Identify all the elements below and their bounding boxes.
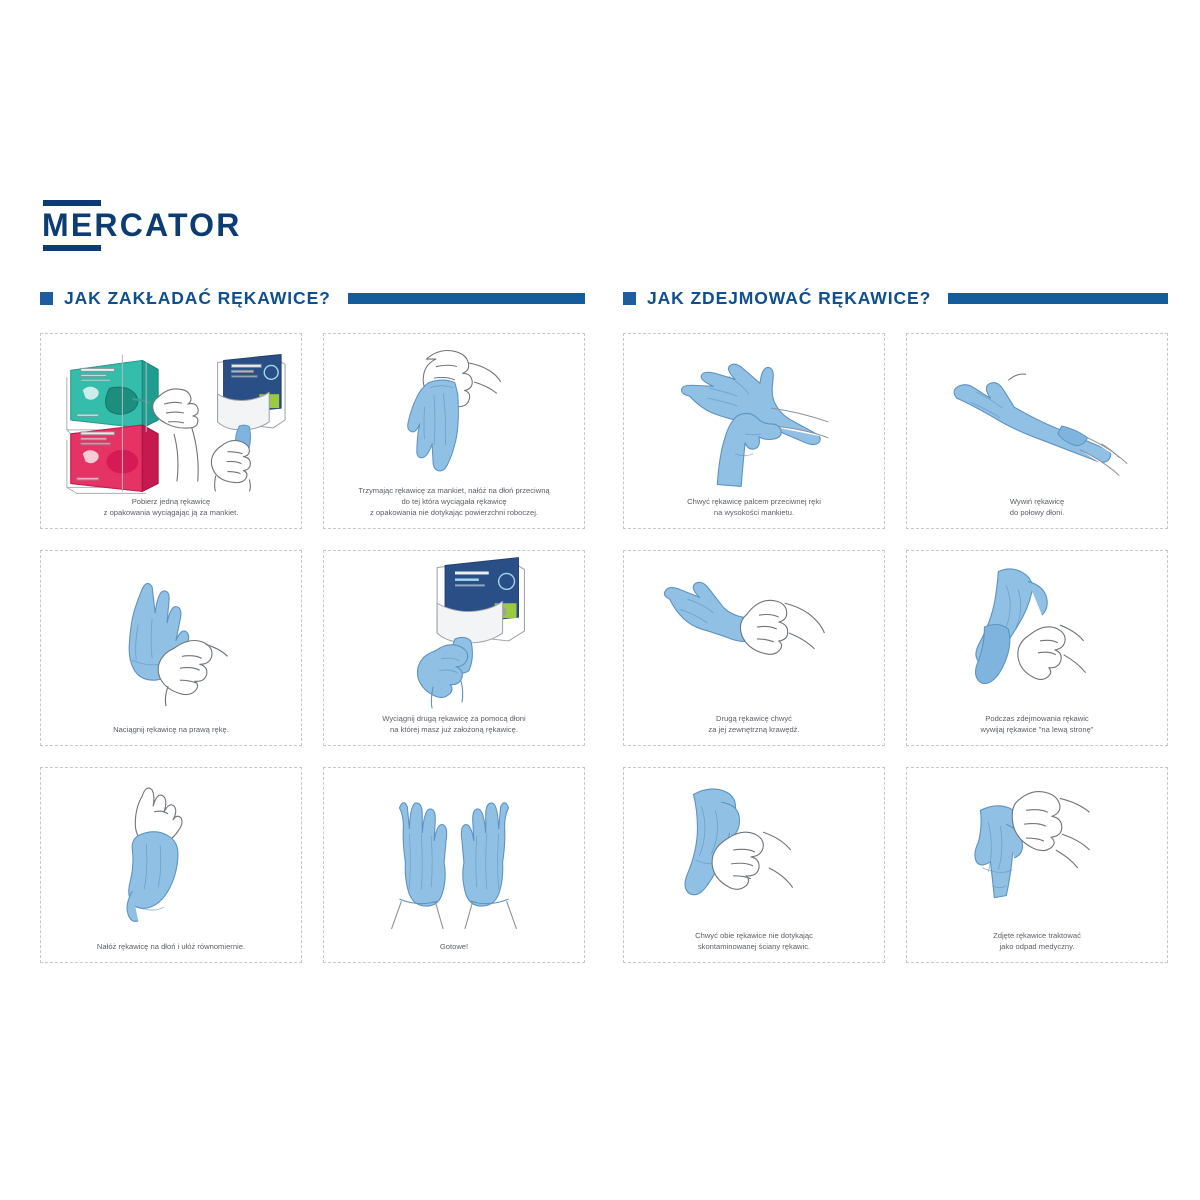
header-rule <box>948 293 1168 304</box>
step-caption: Wyciągnij drugą rękawicę za pomocą dłoni… <box>330 711 578 738</box>
section-title-doffing: JAK ZDEJMOWAĆ RĘKAWICE? <box>647 288 931 309</box>
rolling-glove-to-mid-palm-illustration <box>913 340 1161 494</box>
step-card: Naciągnij rękawicę na prawą rękę. <box>40 550 302 746</box>
card-grid-doffing: Chwyć rękawicę palcem przeciwnej ręki na… <box>623 333 1168 963</box>
gloved-hand-taking-second-glove-from-dispenser-illustration: 3 <box>330 557 578 711</box>
step-card: 3 <box>323 550 585 746</box>
card-grid-donning: 3 <box>40 333 585 963</box>
logo-wordmark: MERCATOR <box>42 206 252 242</box>
grasping-glove-at-cuff-illustration <box>630 340 878 494</box>
section-title-donning: JAK ZAKŁADAĆ RĘKAWICE? <box>64 288 331 309</box>
hand-holding-glove-by-cuff-illustration <box>330 340 578 483</box>
section-donning: JAK ZAKŁADAĆ RĘKAWICE? <box>40 285 585 963</box>
step-caption: Trzymając rękawicę za mankiet, nałóż na … <box>330 483 578 521</box>
step-card: Wywiń rękawicę do połowy dłoni. <box>906 333 1168 529</box>
step-caption: Nałóż rękawicę na dłoń i ułóż równomiern… <box>47 939 295 955</box>
square-bullet-icon <box>623 292 636 305</box>
two-gloved-hands-illustration <box>330 774 578 939</box>
turning-glove-inside-out-illustration <box>913 557 1161 711</box>
step-card: Chwyć rękawicę palcem przeciwnej ręki na… <box>623 333 885 529</box>
mercator-logo: MERCATOR <box>42 200 252 251</box>
step-caption: Naciągnij rękawicę na prawą rękę. <box>47 722 295 738</box>
step-card: 3 <box>40 333 302 529</box>
step-card: Zdjęte rękawice traktować jako odpad med… <box>906 767 1168 963</box>
holding-both-gloves-illustration <box>630 774 878 928</box>
step-caption: Wywiń rękawicę do połowy dłoni. <box>913 494 1161 521</box>
discard-gloves-as-medical-waste-illustration <box>913 774 1161 928</box>
dispenser-boxes-illustration: 3 <box>47 340 295 494</box>
section-header-doffing: JAK ZDEJMOWAĆ RĘKAWICE? <box>623 285 1168 311</box>
step-card: Chwyć obie rękawice nie dotykając skonta… <box>623 767 885 963</box>
adjusting-glove-on-hand-illustration <box>47 774 295 939</box>
infographic-columns: JAK ZAKŁADAĆ RĘKAWICE? <box>0 285 1200 963</box>
step-caption: Podczas zdejmowania rękawic wywijaj ręka… <box>913 711 1161 738</box>
step-card: Trzymając rękawicę za mankiet, nałóż na … <box>323 333 585 529</box>
step-caption: Drugą rękawicę chwyć za jej zewnętrzną k… <box>630 711 878 738</box>
grasping-second-glove-outer-edge-illustration <box>630 557 878 711</box>
header-rule <box>348 293 585 304</box>
logo-bottom-bar <box>43 245 101 251</box>
step-caption: Chwyć rękawicę palcem przeciwnej ręki na… <box>630 494 878 521</box>
step-caption: Pobierz jedną rękawicę z opakowania wyci… <box>47 494 295 521</box>
step-caption: Gotowe! <box>330 939 578 955</box>
step-card: Drugą rękawicę chwyć za jej zewnętrzną k… <box>623 550 885 746</box>
step-card: Podczas zdejmowania rękawic wywijaj ręka… <box>906 550 1168 746</box>
step-card: Gotowe! <box>323 767 585 963</box>
section-header-donning: JAK ZAKŁADAĆ RĘKAWICE? <box>40 285 585 311</box>
pulling-glove-onto-right-hand-illustration <box>47 557 295 722</box>
section-doffing: JAK ZDEJMOWAĆ RĘKAWICE? <box>623 285 1168 963</box>
step-caption: Chwyć obie rękawice nie dotykając skonta… <box>630 928 878 955</box>
step-caption: Zdjęte rękawice traktować jako odpad med… <box>913 928 1161 955</box>
square-bullet-icon <box>40 292 53 305</box>
step-card: Nałóż rękawicę na dłoń i ułóż równomiern… <box>40 767 302 963</box>
